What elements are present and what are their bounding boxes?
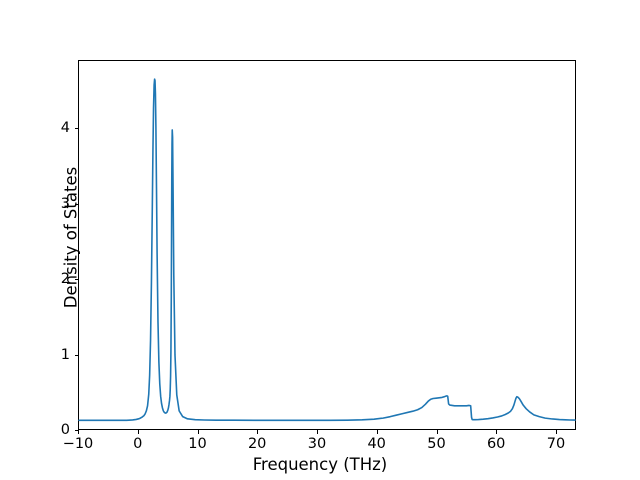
x-tick-mark [78,430,79,434]
x-tick-mark [556,430,557,434]
x-tick-label: −10 [48,436,108,453]
x-tick-mark [138,430,139,434]
chart-svg [79,61,575,429]
x-tick-mark [198,430,199,434]
density-of-states-line [79,79,575,420]
x-tick-mark [377,430,378,434]
x-tick-label: 20 [227,436,287,453]
x-tick-label: 70 [526,436,586,453]
x-tick-mark [317,430,318,434]
x-tick-mark [437,430,438,434]
x-tick-label: 40 [347,436,407,453]
figure-canvas: −10 0 10 20 30 40 50 60 70 0 1 2 3 4 Fre… [0,0,640,480]
x-tick-label: 0 [108,436,168,453]
x-tick-label: 50 [407,436,467,453]
y-tick-label: 0 [44,423,70,437]
x-tick-mark [257,430,258,434]
y-axis-label: Density of States [62,88,81,388]
x-tick-mark [496,430,497,434]
x-tick-label: 10 [168,436,228,453]
plot-area [78,60,576,430]
x-tick-label: 60 [466,436,526,453]
x-tick-label: 30 [287,436,347,453]
x-axis-label: Frequency (THz) [0,455,640,474]
y-tick-mark [75,430,79,431]
